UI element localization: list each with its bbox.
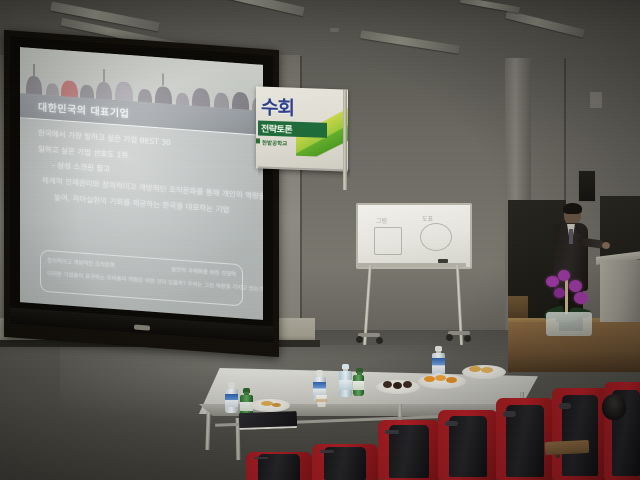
sweet-item [403,381,412,388]
whiteboard-note: 그림 [376,219,387,225]
banner-pole [343,90,347,190]
orange-slice [446,377,457,383]
cracker-item [469,366,481,372]
sweet-item [383,381,392,388]
bottle-label [339,380,352,390]
lecture-hall-photo: 대한민국의 대표기업 한국에서 가장 일하고 싶은 기업 BEST 30 일하고… [0,0,640,480]
ceiling-light-fixture [205,0,304,16]
orchid-pot [546,312,592,336]
slide-callout-box: 창의적이고 개방적인 조직문화 발전적 국제화를 위한 경쟁력 이러한 기업들이… [40,250,243,307]
banner-band-text: 전략토론 [261,122,292,136]
auditorium-seat[interactable] [438,410,498,480]
presenter-hand [602,242,610,249]
callout-left-text: 창의적이고 개방적인 조직문화 [47,256,115,269]
whiteboard-surface[interactable]: 그림 도표 [356,203,472,269]
callout-right-text: 발전적 국제화를 위한 경쟁력 [171,265,236,278]
seat-hinge-icon [503,411,516,417]
orchid-support-stick [565,280,568,316]
podium [600,260,640,322]
bottle-label [225,394,238,407]
screen-surface: 대한민국의 대표기업 한국에서 가장 일하고 싶은 기업 BEST 30 일하고… [20,47,263,320]
whiteboard-caster [464,335,471,342]
paper-cup-band [316,399,327,402]
auditorium-seat[interactable] [378,420,440,480]
whiteboard-sketch [374,227,402,255]
sweet-item [393,382,402,389]
whiteboard-note: 도표 [422,217,433,223]
presenter-hair [563,203,582,214]
orange-slice [424,376,435,382]
banner-sub-text: 한밭공학교 [262,139,287,148]
ceiling-light-fixture [460,0,520,13]
orchid-flower [574,292,588,304]
whiteboard-caster [446,334,453,341]
orchid-flower [554,288,565,298]
ceiling-speaker-icon [330,28,339,32]
whiteboard-caster [376,337,383,344]
auditorium-seat[interactable] [496,398,554,480]
orchid-flower [546,276,559,287]
seat-hinge-icon [254,457,269,459]
auditorium-seat[interactable] [246,452,312,480]
screen-pull-handle[interactable] [134,324,150,330]
cracker-item [481,367,493,373]
presenter-tie [569,229,573,244]
seat-hinge-icon [445,421,458,426]
banner-bullet-icon [256,138,260,143]
auditorium-seat[interactable] [312,444,378,480]
ceiling-light-fixture [505,10,585,37]
orchid-flower [569,280,582,292]
wall-speaker-icon [578,170,596,202]
seat-hinge-icon [385,430,399,434]
whiteboard-sketch [420,223,452,251]
bottle-label [432,358,445,373]
screen-bezel: 대한민국의 대표기업 한국에서 가장 일하고 싶은 기업 BEST 30 일하고… [10,36,273,342]
seat-hinge-icon [559,403,571,409]
ceiling-light-fixture [360,30,460,54]
banner-title: 수회 [261,93,294,121]
whiteboard: 그림 도표 [350,203,472,343]
event-banner: 수회 전략토론 한밭공학교 [256,86,348,171]
orchid-flower [558,270,570,281]
snack-item [272,403,281,407]
presentation-slide: 대한민국의 대표기업 한국에서 가장 일하고 싶은 기업 BEST 30 일하고… [20,47,263,320]
wall-vent-icon [590,92,602,108]
seat-tray-table[interactable] [545,440,590,455]
whiteboard-caster [356,336,363,343]
slide-body: 한국에서 가장 일하고 싶은 기업 BEST 30 일하고 싶은 기업 선호도 … [20,118,263,320]
seat-hinge-icon [320,450,335,453]
auditorium-seat[interactable] [552,388,608,480]
notebook-tablet[interactable] [239,411,298,430]
orchid-plant [538,258,598,336]
orange-slice [435,375,446,381]
audience-head [602,394,626,420]
whiteboard-marker[interactable] [438,259,448,263]
projection-screen: 대한민국의 대표기업 한국에서 가장 일하고 싶은 기업 BEST 30 일하고… [4,30,279,357]
whiteboard-marker-tray [358,263,466,267]
bottle-label [353,381,364,390]
banner-subtitle-band: 전략토론 [258,120,327,137]
bottle-label [313,382,326,395]
